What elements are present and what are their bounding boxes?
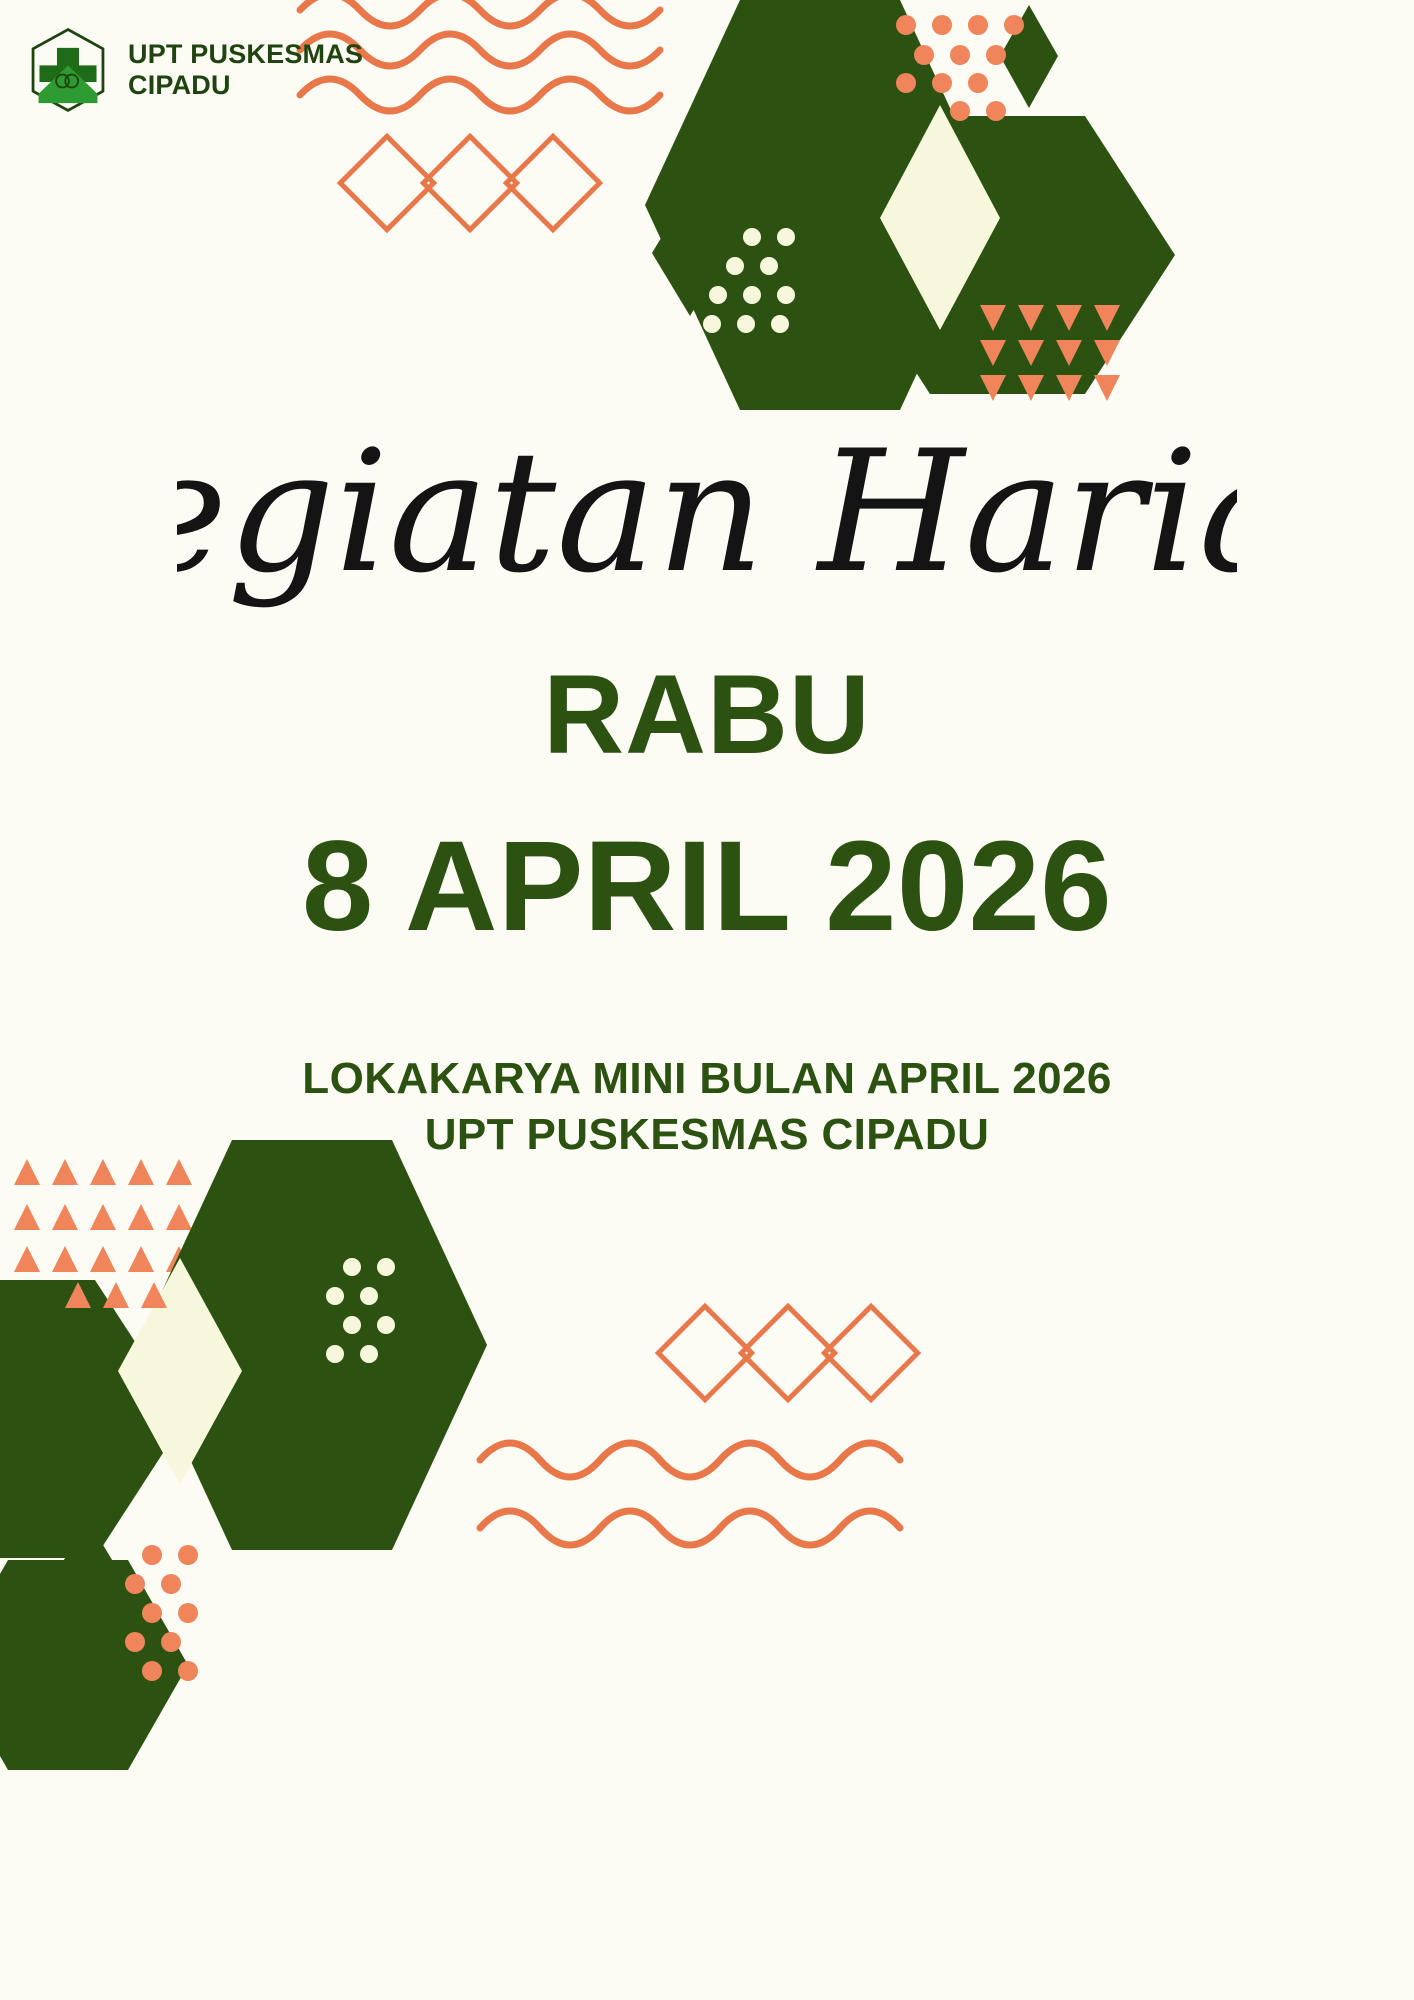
wave-lines-bottom — [480, 1443, 900, 1545]
hexagon-left-bottom — [0, 1280, 185, 1558]
brand-name: UPT PUSKESMAS CIPADU — [128, 39, 363, 101]
subtitle-line-1: LOKAKARYA MINI BULAN APRIL 2026 — [0, 955, 1414, 1107]
small-diamond-green-bottom — [378, 1288, 454, 1414]
diamond-outlines-bottom — [658, 1306, 917, 1399]
small-diamond-green-top — [652, 190, 728, 316]
cream-diamond-top-right — [880, 105, 1000, 330]
main-text-block: RABU 8 APRIL 2026 LOKAKARYA MINI BULAN A… — [0, 640, 1414, 1163]
triangle-grid-orange-bottom-left — [14, 1159, 192, 1272]
dot-grid-orange-bottom — [125, 1545, 198, 1681]
puskesmas-logo-icon — [22, 24, 114, 116]
headline-script-text: Kegiatan Harian — [177, 414, 1237, 610]
hexagon-cluster-top-right — [645, 0, 1175, 410]
diamond-green-bottom-corner — [50, 1520, 126, 1646]
hexagon-right-top — [840, 116, 1175, 394]
cream-diamond-bottom-left — [118, 1258, 242, 1484]
hexagon-lower-bottom — [0, 1560, 188, 1770]
hexagon-cluster-bottom-left — [0, 1140, 487, 1558]
headline-script-icon: Kegiatan Harian — [177, 392, 1237, 642]
day-title: RABU — [0, 640, 1414, 772]
dot-grid-cream-top — [703, 228, 795, 333]
dot-grid-cream-bottom — [326, 1258, 395, 1363]
diamond-green-corner-top — [1000, 5, 1058, 108]
headline-script-container: Kegiatan Harian — [0, 392, 1414, 642]
brand-header: UPT PUSKESMAS CIPADU — [22, 24, 363, 116]
subtitle-line-2: UPT PUSKESMAS CIPADU — [0, 1107, 1414, 1163]
triangle-grid-orange-top — [980, 305, 1120, 401]
hexagon-main-top — [645, 0, 995, 410]
date-title: 8 APRIL 2026 — [0, 772, 1414, 954]
hexagon-main-bottom — [137, 1140, 487, 1550]
dot-grid-orange-top — [896, 15, 1024, 121]
poster-canvas: UPT PUSKESMAS CIPADU Kegiatan Harian RAB… — [0, 0, 1414, 2000]
diamond-outlines-top — [340, 136, 599, 229]
triangle-grid-orange-bottom-overlay — [65, 1282, 167, 1308]
